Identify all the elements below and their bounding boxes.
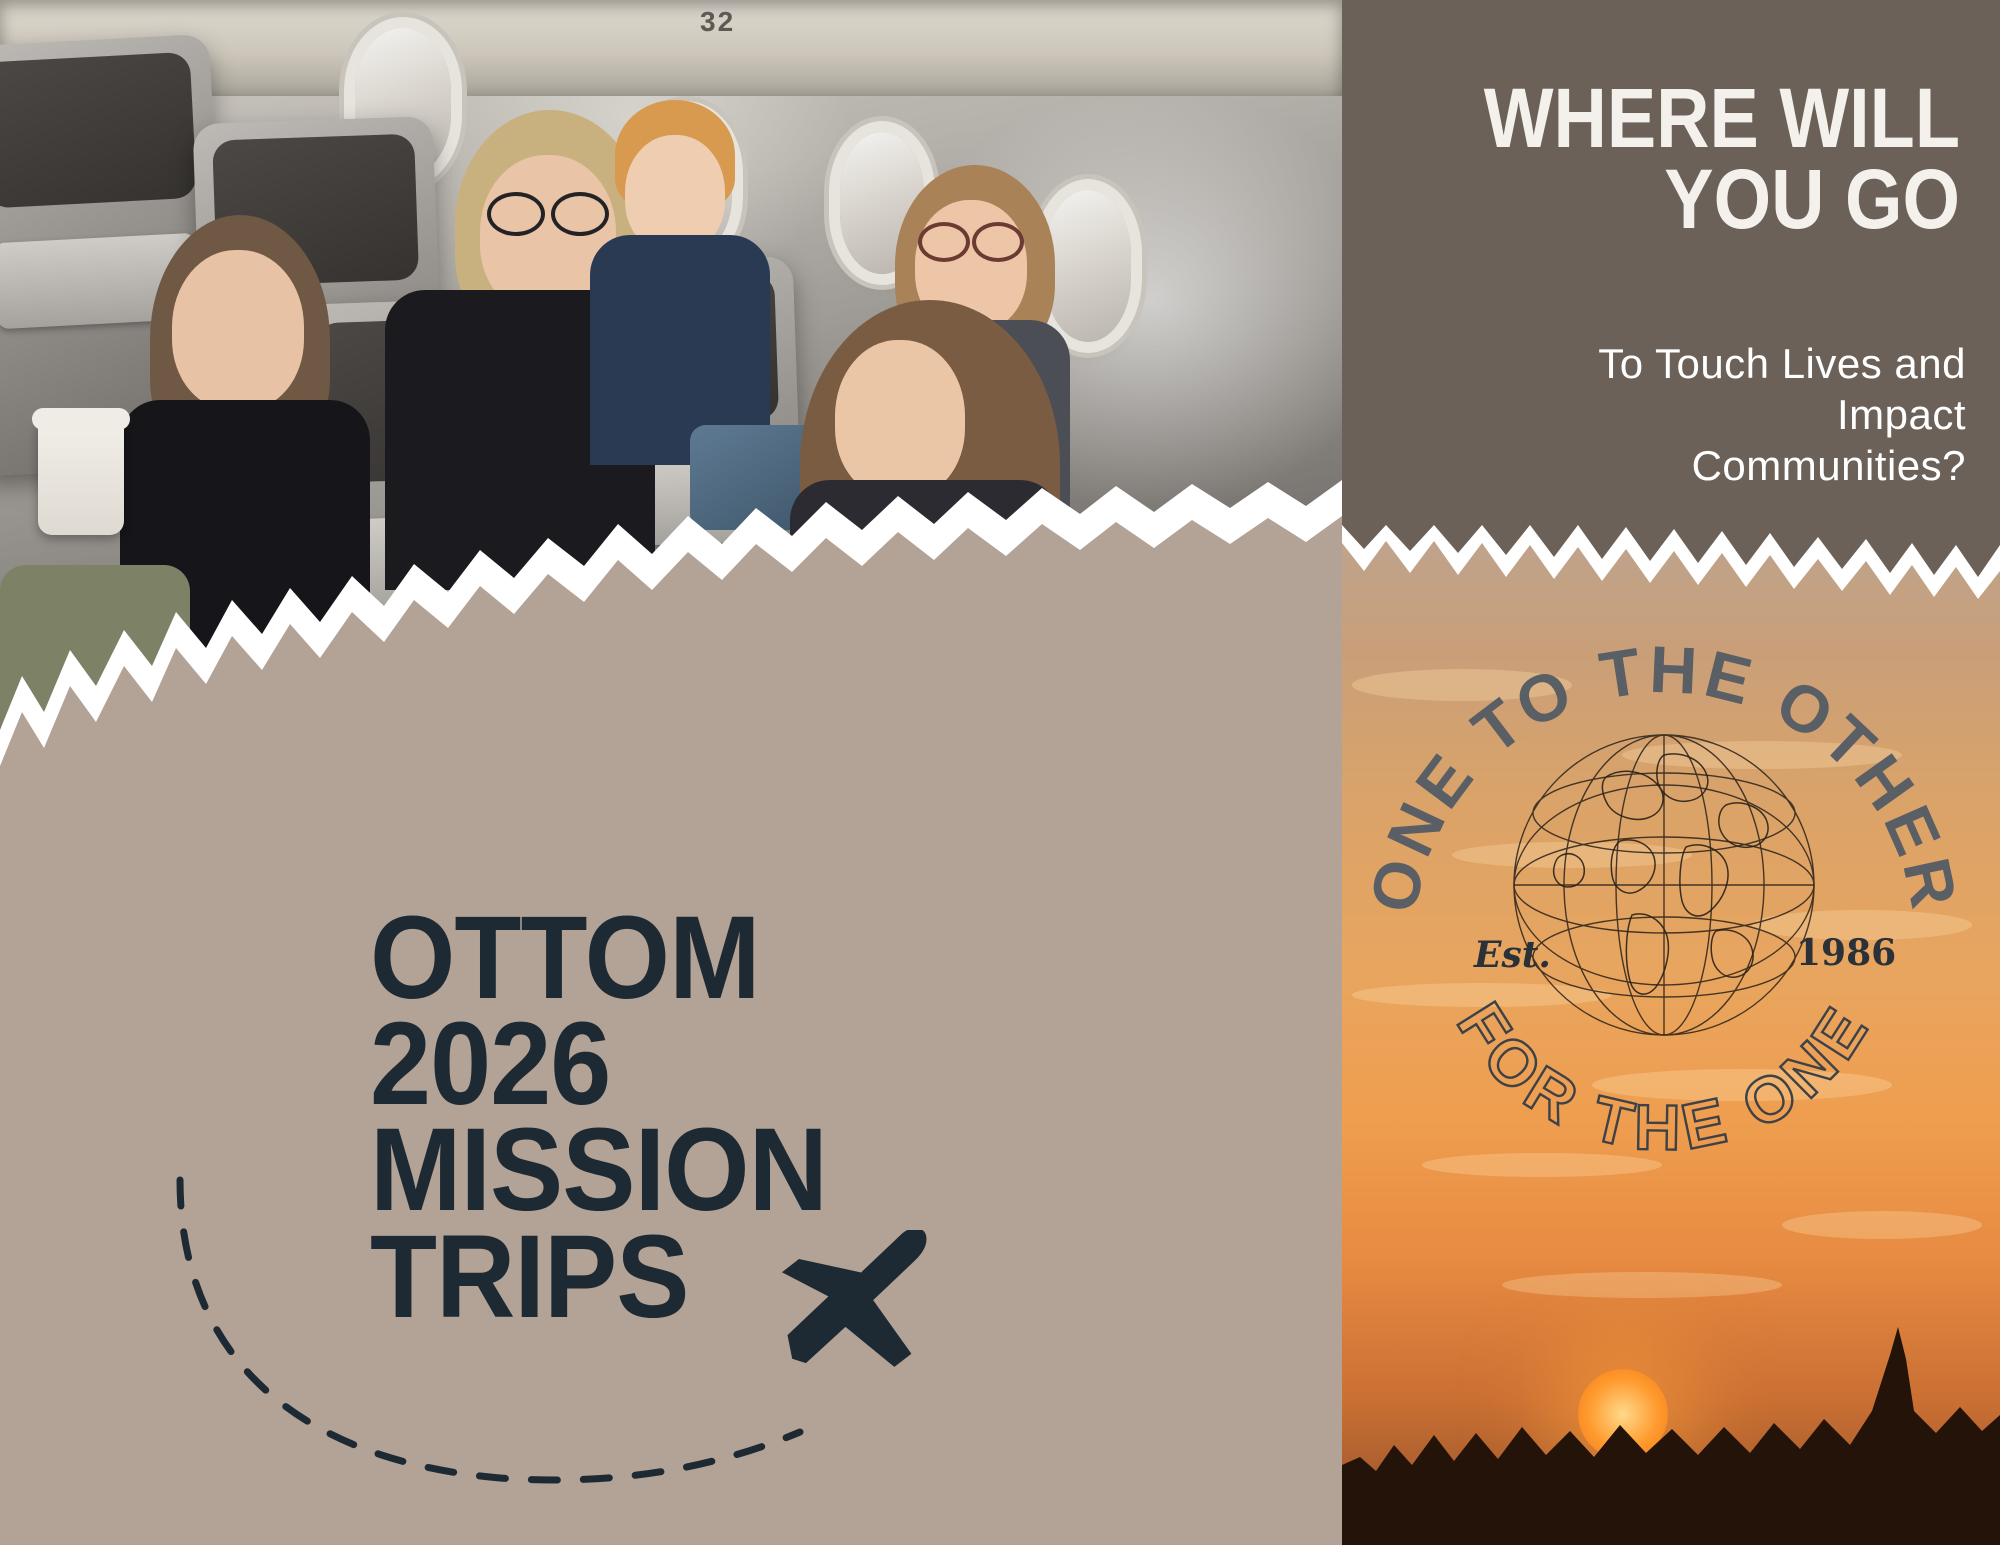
airplane-icon: [770, 1230, 950, 1380]
eyeglasses-icon: [918, 222, 1024, 256]
title-line-2: 2026: [370, 1011, 816, 1117]
subheadline-line-1: To Touch Lives and: [1406, 338, 1966, 389]
coffee-cup: [38, 420, 124, 535]
left-column: 32 737 737 737 737: [0, 0, 1342, 1545]
subheadline: To Touch Lives and Impact Communities?: [1406, 338, 1966, 492]
traveler-torso: [790, 480, 1060, 740]
traveler-face: [172, 250, 304, 410]
flight-path-dashes: [170, 1160, 810, 1510]
globe-wireframe: [1514, 735, 1814, 1035]
poster-canvas: 32 737 737 737 737: [0, 0, 2000, 1545]
bin-row-number: 32: [700, 6, 735, 38]
headline-line-1: WHERE WILL: [1450, 78, 1960, 159]
subheadline-line-3: Communities?: [1406, 440, 1966, 491]
continent-outlines: [1554, 754, 1768, 994]
logo-est-year: 1986: [1796, 932, 1896, 974]
traveler-legs: [0, 565, 190, 745]
logo-est-label: Est.: [1473, 934, 1551, 976]
subheadline-line-2: Impact: [1406, 389, 1966, 440]
organization-logo: ONE TO THE OTHER FOR THE ONE Est. 1986: [1364, 555, 1964, 1175]
airplane-cabin-photo: 32 737 737 737 737: [0, 0, 1342, 820]
cabin-window: [1045, 190, 1131, 342]
traveler-face: [835, 340, 965, 498]
seat-headrest: [0, 52, 197, 209]
right-column: WHERE WILL YOU GO To Touch Lives and Imp…: [1342, 0, 2000, 1545]
sunset-photo: ONE TO THE OTHER FOR THE ONE Est. 1986: [1342, 525, 2000, 1545]
headline-line-2: YOU GO: [1450, 159, 1960, 240]
tree-silhouette: [1342, 1315, 2000, 1545]
eyeglasses-icon: [487, 192, 609, 230]
headline: WHERE WILL YOU GO: [1450, 78, 1960, 239]
title-line-1: OTTOM: [370, 905, 816, 1011]
